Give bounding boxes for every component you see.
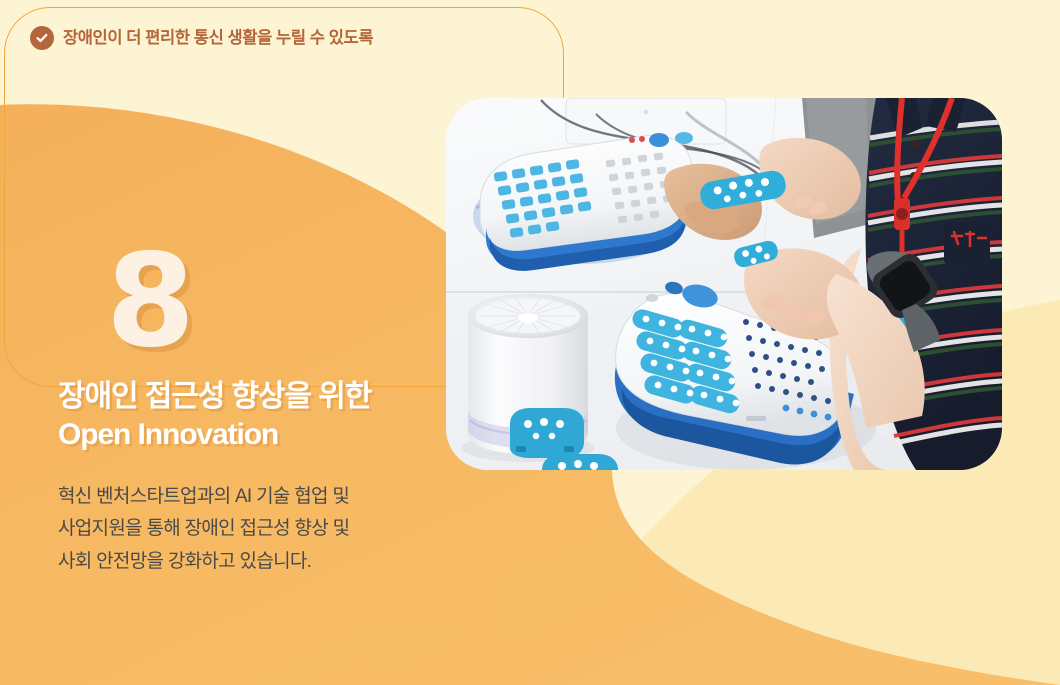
page-title: 장애인 접근성 향상을 위한 Open Innovation bbox=[58, 378, 458, 455]
eyebrow-header: 장애인이 더 편리한 통신 생활을 누릴 수 있도록 bbox=[30, 26, 373, 50]
title-line-1: 장애인 접근성 향상을 위한 bbox=[58, 380, 371, 413]
title-line-2: Open Innovation bbox=[58, 416, 458, 454]
desc-line-1: 혁신 벤처스타트업과의 AI 기술 협업 및 bbox=[58, 481, 458, 514]
desc-line-2: 사업지원을 통해 장애인 접근성 향상 및 bbox=[58, 513, 458, 546]
eyebrow-text: 장애인이 더 편리한 통신 생활을 누릴 수 있도록 bbox=[63, 30, 373, 47]
check-circle-icon bbox=[30, 26, 54, 50]
photo-clip bbox=[446, 98, 1002, 470]
photo-card bbox=[446, 98, 1002, 470]
desc-line-3: 사회 안전망을 강화하고 있습니다. bbox=[58, 546, 458, 579]
braille-device-photo bbox=[446, 98, 1002, 470]
promo-banner: 장애인이 더 편리한 통신 생활을 누릴 수 있도록 8 장애인 접근성 향상을… bbox=[0, 0, 1060, 685]
content-column: 8 장애인 접근성 향상을 위한 Open Innovation 혁신 벤처스타… bbox=[58, 252, 458, 579]
section-number: 8 bbox=[106, 252, 458, 360]
blue-module-left-2 bbox=[542, 454, 618, 470]
blue-module-left-1 bbox=[510, 408, 584, 458]
description-text: 혁신 벤처스타트업과의 AI 기술 협업 및 사업지원을 통해 장애인 접근성 … bbox=[58, 481, 458, 579]
